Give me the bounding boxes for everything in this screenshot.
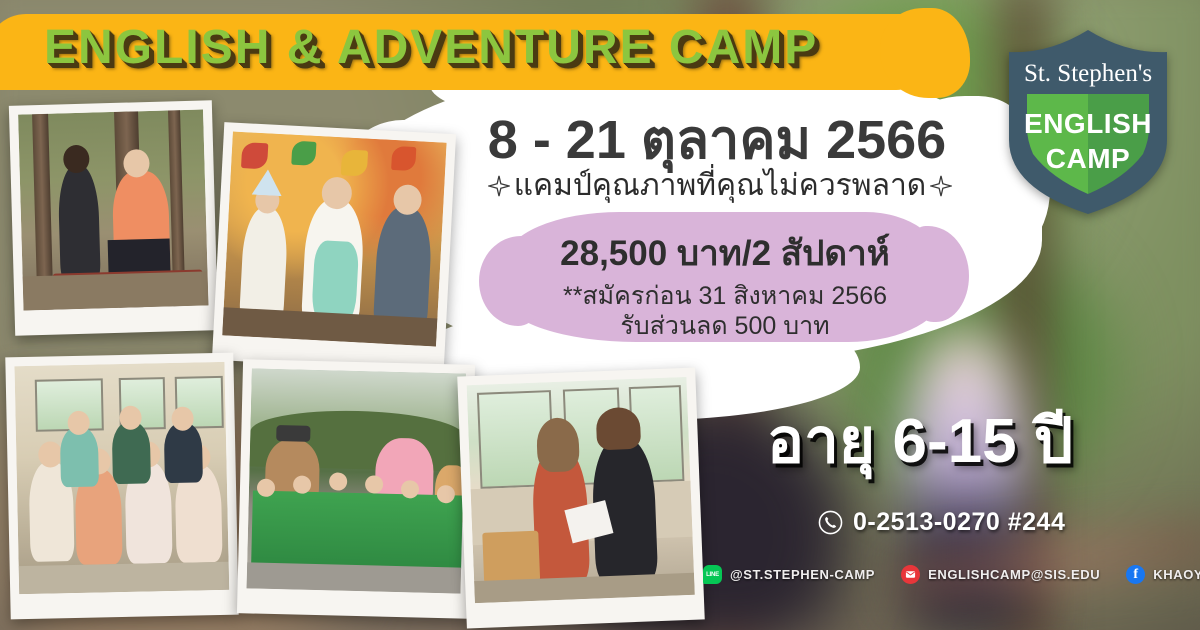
sparkle-icon <box>930 175 952 197</box>
logo-line-english: ENGLISH <box>1003 108 1173 140</box>
phone-row[interactable]: 0-2513-0270 #244 <box>818 508 1065 537</box>
subtitle-row: แคมป์คุณภาพที่คุณไม่ควรพลาด <box>440 162 1000 209</box>
school-logo: St. Stephen's ENGLISH CAMP <box>1003 28 1173 216</box>
photo-craft-room-group <box>212 122 456 372</box>
email-icon <box>901 565 920 584</box>
logo-school-name: St. Stephen's <box>1003 60 1173 88</box>
page-title: ENGLISH & ADVENTURE CAMP <box>44 20 904 75</box>
line-icon-label: LINE <box>706 572 719 578</box>
facebook-icon: f <box>1126 565 1145 584</box>
photo-classroom-heart-pose <box>5 353 238 620</box>
social-item-line[interactable]: LINE @ST.STEPHEN-CAMP <box>703 565 875 584</box>
social-bar: LINE @ST.STEPHEN-CAMP ENGLISHCAMP@SIS.ED… <box>703 565 1200 584</box>
camp-subtitle: แคมป์คุณภาพที่คุณไม่ควรพลาด <box>514 162 927 209</box>
social-item-email[interactable]: ENGLISHCAMP@SIS.EDU <box>901 565 1100 584</box>
photo-bear-mascot-group <box>237 359 475 619</box>
social-item-facebook[interactable]: f KHAOYAICAMPSIS <box>1126 565 1200 584</box>
age-range: อายุ 6-15 ปี <box>700 392 1140 490</box>
phone-number: 0-2513-0270 #244 <box>853 508 1065 537</box>
line-icon: LINE <box>703 565 722 584</box>
facebook-icon-label: f <box>1133 568 1138 582</box>
logo-line-camp: CAMP <box>1003 143 1173 175</box>
line-handle: @ST.STEPHEN-CAMP <box>730 567 875 582</box>
phone-circle-icon <box>818 510 843 535</box>
facebook-page: KHAOYAICAMPSIS <box>1153 567 1200 582</box>
envelope-glyph <box>905 569 916 580</box>
price-amount: 28,500 บาท/2 สัปดาห์ <box>505 226 945 281</box>
photo-outdoor-activity <box>9 100 218 336</box>
photo-classroom-worksheet <box>457 368 704 629</box>
price-note-line2: รับส่วนลด 500 บาท <box>495 306 955 346</box>
sparkle-icon <box>488 175 510 197</box>
email-address: ENGLISHCAMP@SIS.EDU <box>928 567 1100 582</box>
